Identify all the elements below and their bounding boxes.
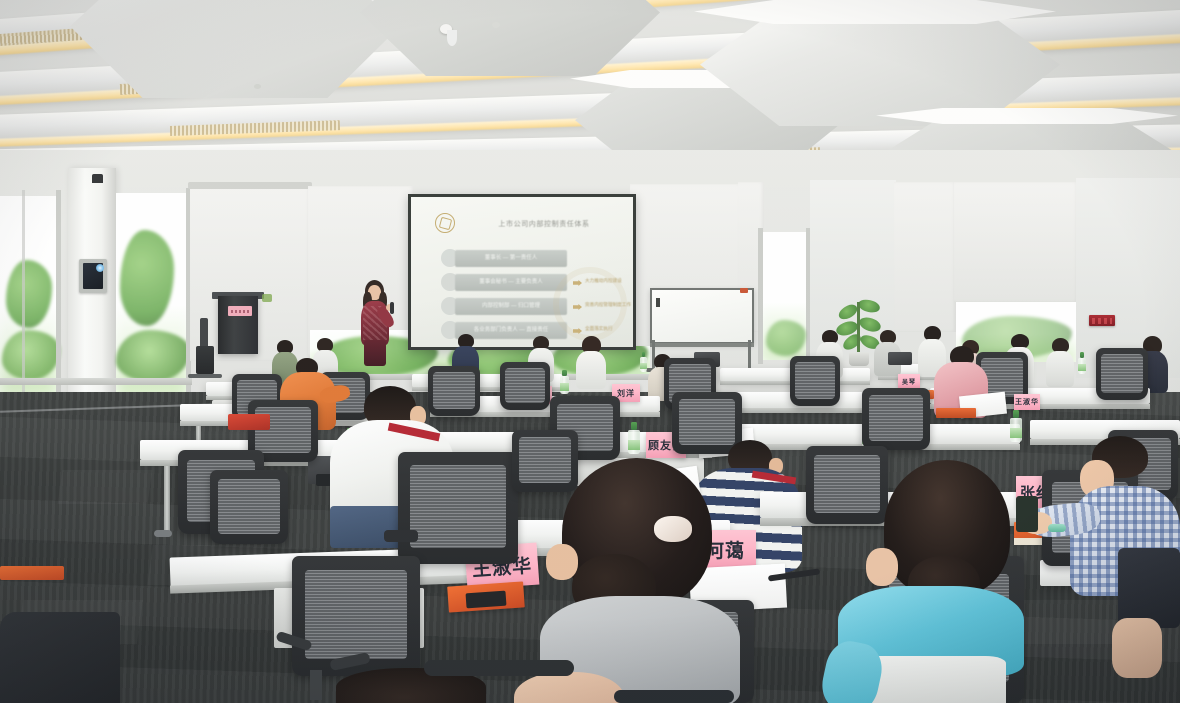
window-mullion <box>56 190 61 402</box>
podium-bottle-icon <box>262 294 272 302</box>
presenter <box>358 280 392 364</box>
office-chair[interactable] <box>1096 348 1148 400</box>
desk-foot <box>154 530 172 537</box>
slide-title: 上市公司内部控制责任体系 <box>469 219 619 229</box>
hair-clip <box>654 516 692 542</box>
microphone-icon <box>390 302 394 314</box>
chair-base <box>614 690 734 703</box>
ear <box>546 544 578 580</box>
whiteboard-marker-icon <box>740 288 748 293</box>
wall-control-panel[interactable] <box>79 259 107 293</box>
office-chair[interactable] <box>862 388 930 450</box>
chair-base <box>424 660 574 676</box>
attendee <box>0 612 120 703</box>
notebook[interactable] <box>0 566 64 580</box>
window-sill <box>0 378 192 385</box>
ceiling-sensor-icon <box>447 30 457 46</box>
carpet-tile <box>58 470 153 504</box>
security-camera-icon <box>92 174 103 183</box>
window-mullion <box>758 228 763 364</box>
av-equipment <box>196 346 214 374</box>
attendee-turquoise-top <box>838 460 1038 703</box>
ceiling-sensor-icon <box>492 22 500 28</box>
water-bottle[interactable] <box>628 422 640 454</box>
notebook[interactable] <box>936 408 976 418</box>
podium-sign <box>228 306 252 316</box>
ear <box>866 548 898 586</box>
whiteboard <box>650 288 754 344</box>
attendee <box>576 336 606 388</box>
ceiling-sensor-icon <box>254 84 261 89</box>
roller-blind[interactable] <box>954 182 1078 302</box>
mic-stand <box>200 318 208 348</box>
leg <box>1112 618 1162 678</box>
office-chair[interactable] <box>790 356 840 406</box>
water-bottle[interactable] <box>640 352 647 372</box>
smartphone[interactable] <box>1016 496 1038 532</box>
slide-watermark <box>553 267 627 341</box>
slide-bullet: 董事会秘书 — 主要负责人 <box>455 274 567 291</box>
office-chair[interactable] <box>500 362 550 410</box>
notebook[interactable] <box>228 414 270 430</box>
attendee <box>1046 338 1074 386</box>
office-chair[interactable] <box>398 452 518 564</box>
name-card: 吴琴 <box>898 374 920 388</box>
blind-headrail <box>188 182 312 189</box>
emergency-sign-icon <box>1089 315 1115 326</box>
name-card: 王淑华 <box>1014 394 1040 410</box>
dark-clothing <box>1118 548 1180 628</box>
window-mullion <box>22 190 25 402</box>
projection-screen: 上市公司内部控制责任体系 董事长 — 第一责任人 董事会秘书 — 主要负责人 大… <box>408 194 636 350</box>
av-cable <box>188 374 222 378</box>
bracelet <box>1048 524 1066 532</box>
slide-bullet: 内部控制部 — 归口管理 <box>455 298 567 315</box>
desk-leg <box>164 466 170 532</box>
laptop[interactable] <box>888 352 912 365</box>
attendee <box>1118 548 1180 703</box>
water-bottle[interactable] <box>1078 352 1086 374</box>
slide-bullet: 董事长 — 第一责任人 <box>455 250 567 267</box>
office-chair[interactable] <box>210 470 288 544</box>
chair-column <box>310 670 322 700</box>
roller-blind[interactable] <box>894 182 956 332</box>
conference-room-photo: 上市公司内部控制责任体系 董事长 — 第一责任人 董事会秘书 — 主要负责人 大… <box>0 0 1180 703</box>
smartphone[interactable] <box>466 591 507 609</box>
whiteboard-leg <box>748 340 751 370</box>
slide-logo-icon <box>435 213 455 233</box>
water-bottle[interactable] <box>560 370 569 394</box>
podium <box>218 296 258 354</box>
water-bottle[interactable] <box>1010 410 1022 442</box>
